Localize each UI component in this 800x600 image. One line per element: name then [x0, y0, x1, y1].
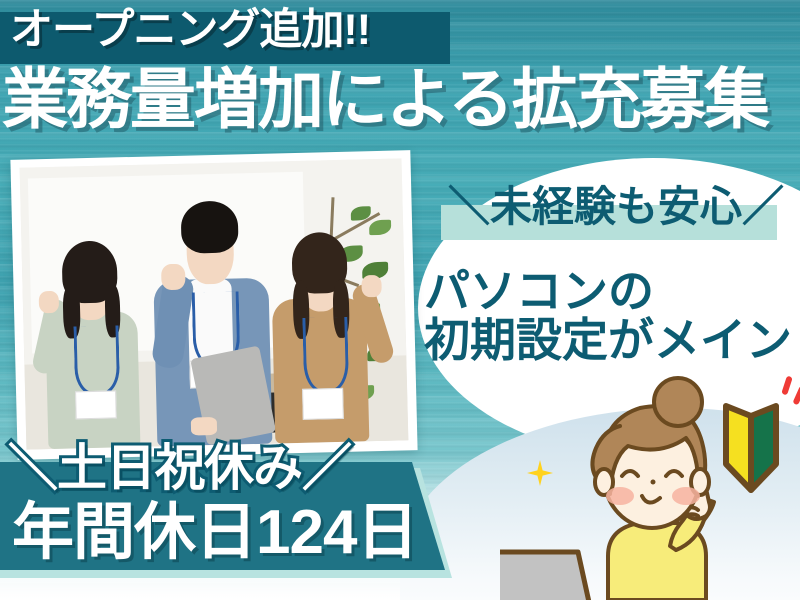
- job-desc-line-1: パソコンの: [424, 268, 654, 314]
- staff-photo-frame: [10, 150, 417, 460]
- wakaba-beginner-mark-icon: [720, 402, 782, 494]
- photo-person-center: [146, 184, 282, 447]
- photo-person-right: [265, 215, 385, 443]
- page-title: 業務量増加による拡充募集: [2, 66, 800, 132]
- illustration-woman-laptop: [500, 360, 800, 600]
- photo-person-left: [36, 227, 156, 450]
- recruitment-banner: オープニング追加!! 業務量増加による拡充募集: [0, 0, 800, 600]
- top-banner-text: オープニング追加!!: [10, 9, 370, 52]
- holiday-main-text: 年間休日124日: [12, 502, 417, 564]
- holiday-lead-text: ＼土日祝休み／: [8, 443, 351, 493]
- experience-lead-text: ＼未経験も安心／: [448, 186, 784, 228]
- job-desc-line-2: 初期設定がメイン: [424, 317, 792, 363]
- staff-photo: [20, 158, 409, 449]
